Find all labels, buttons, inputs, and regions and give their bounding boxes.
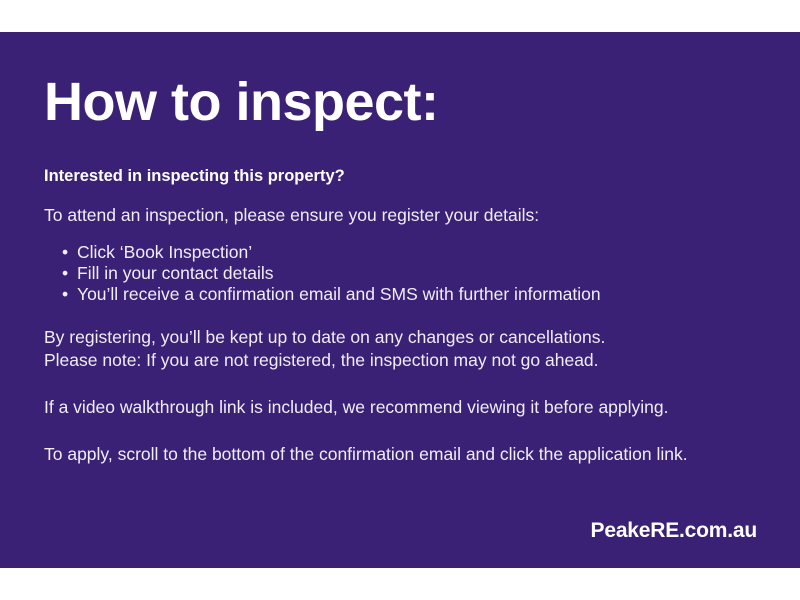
- registering-note-line-1: By registering, you’ll be kept up to dat…: [44, 327, 605, 347]
- subheading: Interested in inspecting this property?: [44, 129, 757, 186]
- list-item: Fill in your contact details: [44, 263, 757, 284]
- page-title: How to inspect:: [44, 32, 757, 129]
- slide-panel: How to inspect: Interested in inspecting…: [0, 32, 800, 568]
- footer-brand: PeakeRE.com.au: [591, 519, 757, 543]
- steps-list: Click ‘Book Inspection’ Fill in your con…: [44, 226, 757, 304]
- slide-content: How to inspect: Interested in inspecting…: [44, 32, 757, 465]
- registering-note-line-2: Please note: If you are not registered, …: [44, 350, 599, 370]
- registering-note: By registering, you’ll be kept up to dat…: [44, 304, 757, 370]
- apply-instructions: To apply, scroll to the bottom of the co…: [44, 418, 757, 465]
- video-walkthrough-note: If a video walkthrough link is included,…: [44, 371, 757, 418]
- intro-paragraph: To attend an inspection, please ensure y…: [44, 186, 757, 226]
- list-item: You’ll receive a confirmation email and …: [44, 284, 757, 305]
- list-item: Click ‘Book Inspection’: [44, 242, 757, 263]
